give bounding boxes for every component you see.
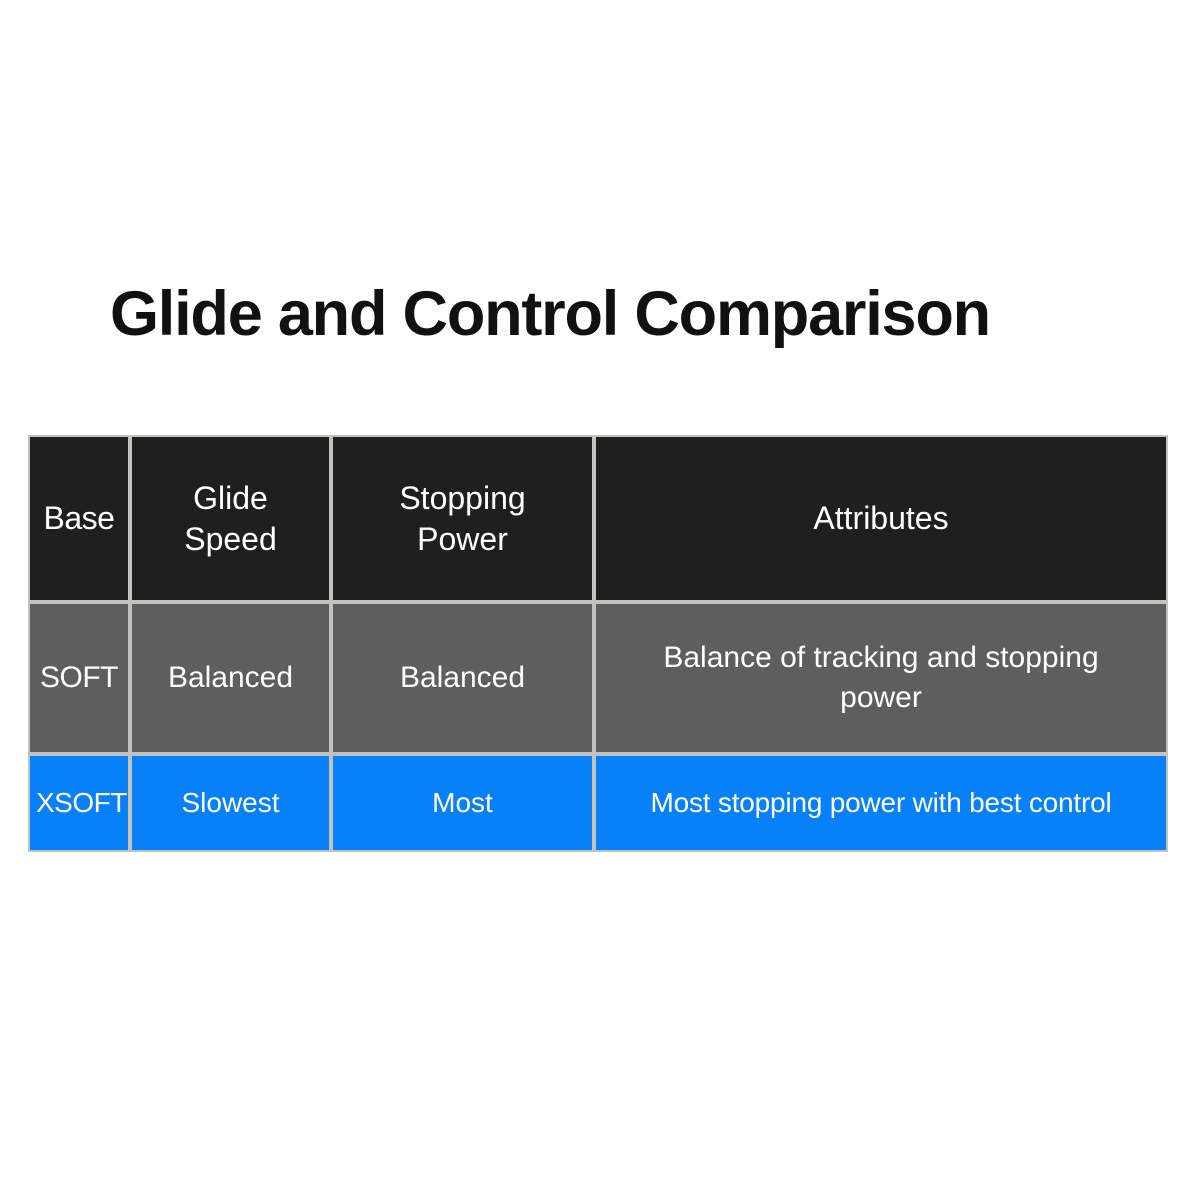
cell-xsoft-base: XSOFT xyxy=(28,754,130,852)
column-header-attributes-line1: Attributes xyxy=(602,498,1160,539)
cell-soft-glide-speed: Balanced xyxy=(130,602,331,754)
cell-soft-stopping-power: Balanced xyxy=(331,602,594,754)
cell-soft-attributes-line1: Balance of tracking and stopping xyxy=(602,638,1160,679)
column-header-glide-speed-line2: Speed xyxy=(138,519,323,560)
cell-xsoft-attributes: Most stopping power with best control xyxy=(594,754,1168,852)
column-header-glide-speed: Glide Speed xyxy=(130,435,331,602)
cell-xsoft-base-text: XSOFT xyxy=(36,786,122,820)
column-header-glide-speed-line1: Glide xyxy=(138,478,323,519)
column-header-base-line1: Base xyxy=(36,498,122,539)
column-header-stopping-power: Stopping Power xyxy=(331,435,594,602)
cell-soft-base: SOFT xyxy=(28,602,130,754)
cell-soft-attributes-line2: power xyxy=(602,678,1160,719)
cell-xsoft-glide-speed-text: Slowest xyxy=(138,786,323,820)
cell-soft-glide-speed-text: Balanced xyxy=(138,658,323,699)
comparison-table: Base Glide Speed Stopping Power Attribut… xyxy=(28,435,1168,852)
column-header-base: Base xyxy=(28,435,130,602)
cell-xsoft-stopping-power-text: Most xyxy=(339,786,586,820)
cell-soft-stopping-power-text: Balanced xyxy=(339,658,586,699)
table-row: SOFT Balanced Balanced Balance of tracki… xyxy=(28,602,1168,754)
cell-soft-base-text: SOFT xyxy=(36,658,122,699)
cell-xsoft-stopping-power: Most xyxy=(331,754,594,852)
cell-soft-attributes: Balance of tracking and stopping power xyxy=(594,602,1168,754)
page-title: Glide and Control Comparison xyxy=(110,278,1110,350)
cell-xsoft-attributes-line1: Most stopping power with best control xyxy=(602,786,1160,820)
column-header-attributes: Attributes xyxy=(594,435,1168,602)
table-row-highlighted: XSOFT Slowest Most Most stopping power w… xyxy=(28,754,1168,852)
cell-xsoft-glide-speed: Slowest xyxy=(130,754,331,852)
column-header-stopping-power-line1: Stopping xyxy=(339,478,586,519)
table-header-row: Base Glide Speed Stopping Power Attribut… xyxy=(28,435,1168,602)
column-header-stopping-power-line2: Power xyxy=(339,519,586,560)
